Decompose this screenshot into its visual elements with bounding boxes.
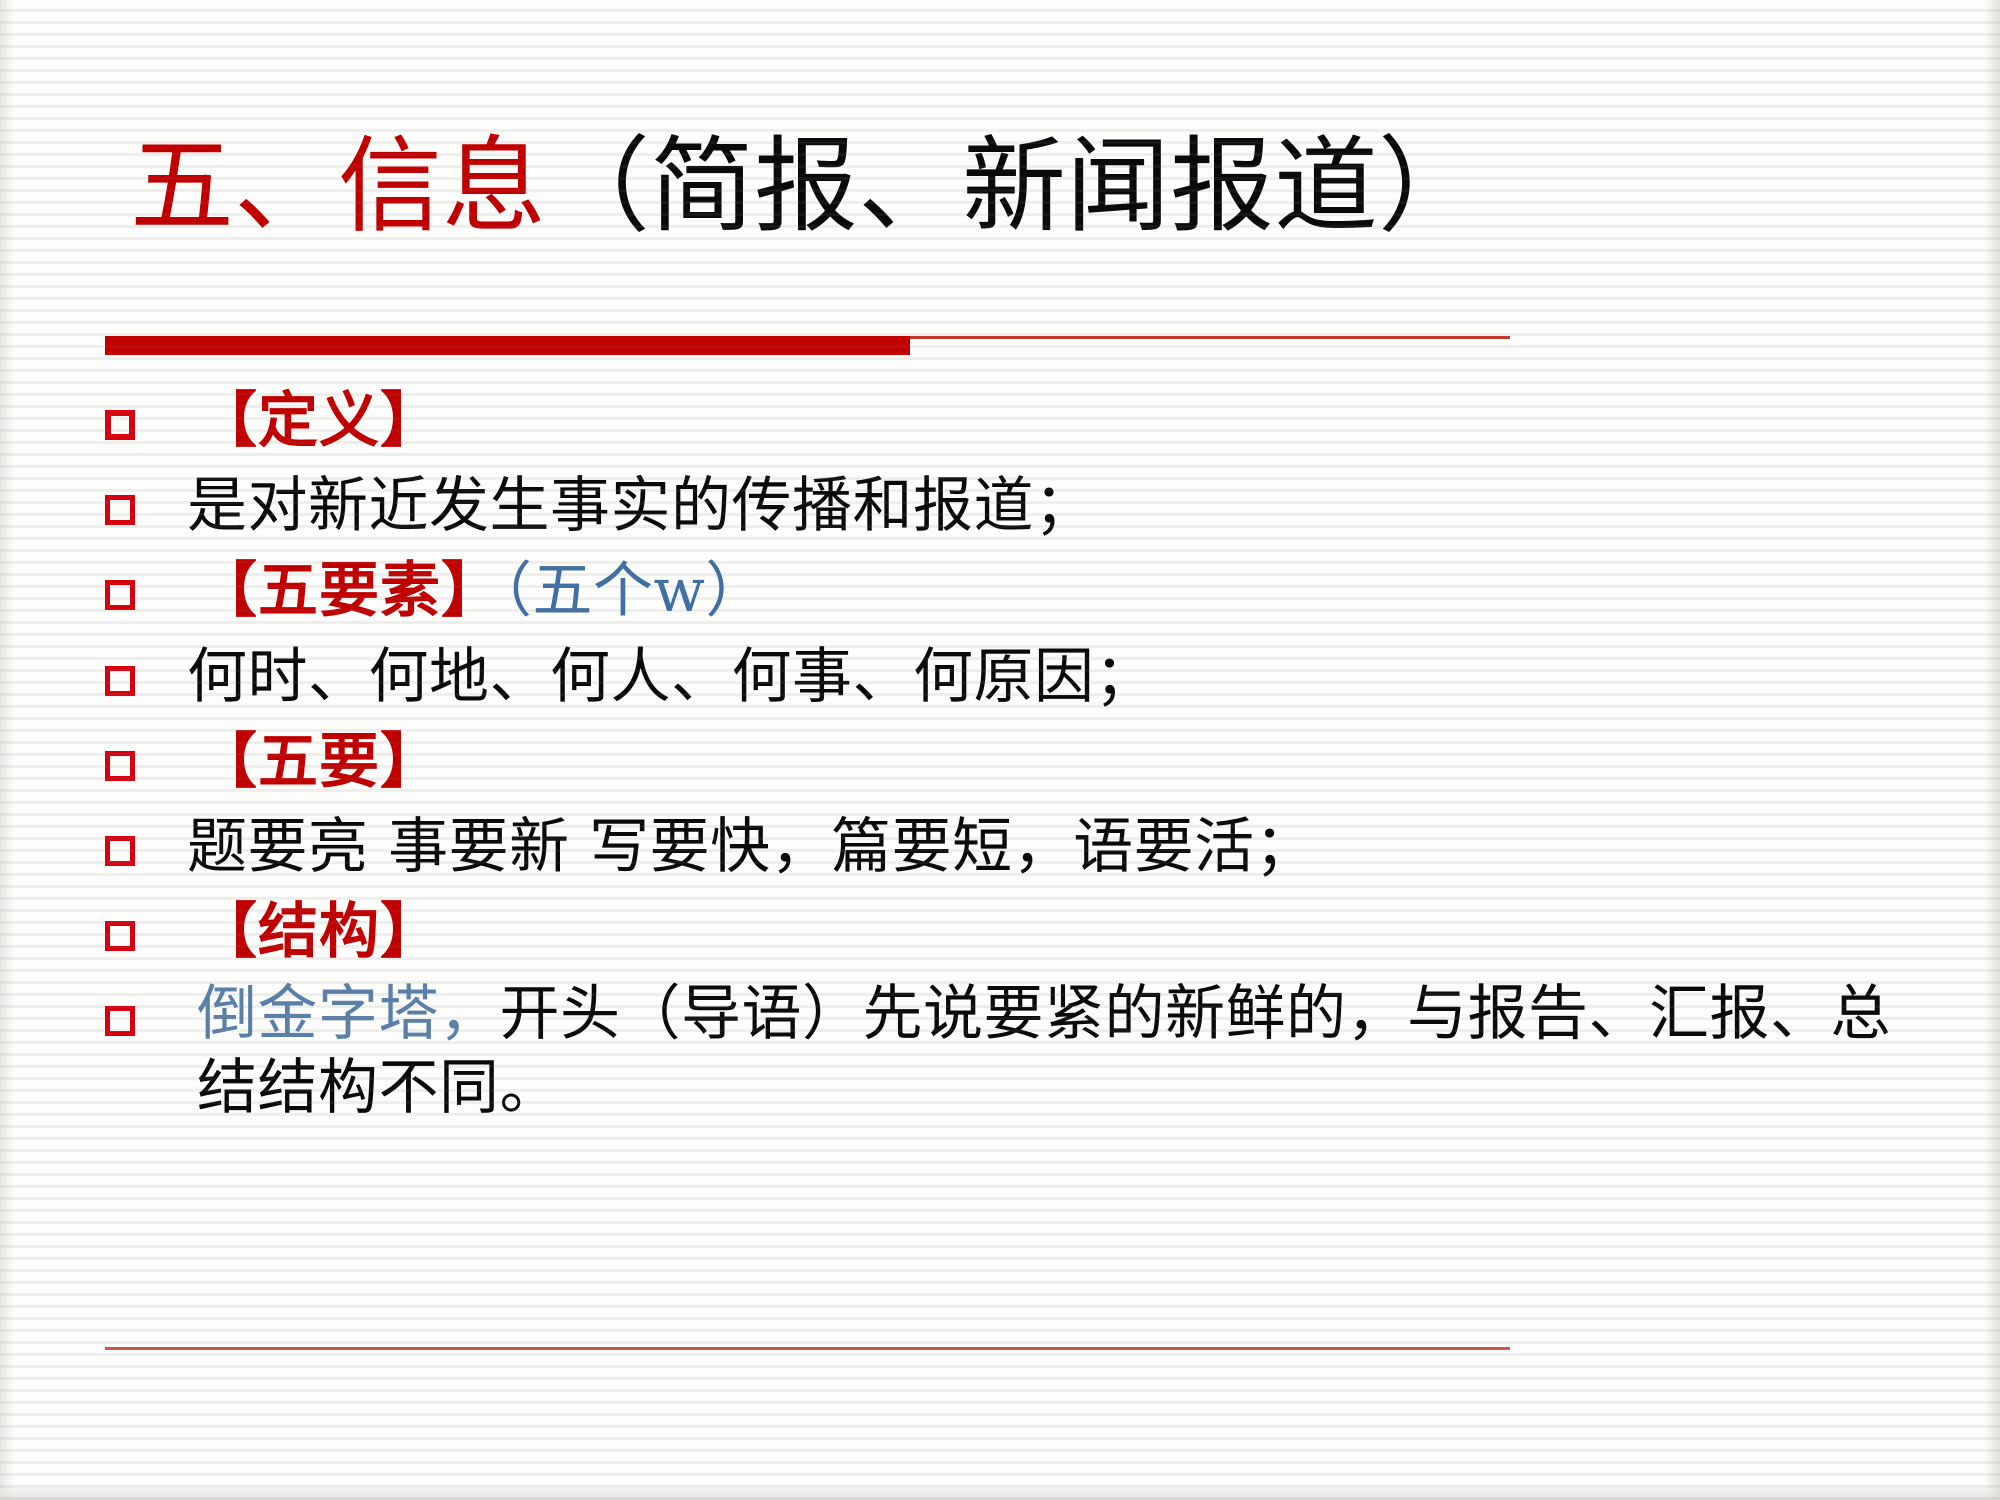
square-bullet-icon — [105, 410, 135, 440]
heading-definition: 【定义】 — [197, 386, 441, 456]
title-divider — [105, 334, 1510, 358]
title-divider-thick — [105, 336, 910, 355]
page-title-black: （简报、新闻报道） — [546, 125, 1482, 247]
slide-canvas: 五、信息（简报、新闻报道） 【定义】 是对新近发生事实的传播和报道； — [0, 0, 2000, 1500]
page-title-red: 五、信息 — [130, 125, 546, 247]
body-structure-lead: 倒金字塔， — [197, 979, 500, 1049]
square-bullet-icon — [105, 921, 135, 951]
square-bullet-icon — [105, 666, 135, 696]
square-bullet-icon — [105, 495, 135, 525]
list-item-label: 何时、何地、何人、何事、何原因； — [135, 638, 1915, 717]
list-item-label: 是对新近发生事实的传播和报道； — [135, 467, 1915, 546]
list-item-label: 倒金字塔，开头（导语）先说要紧的新鲜的，与报告、汇报、总结结构不同。 — [135, 978, 1915, 1124]
body-five-musts: 题要亮 事要新 写要快，篇要短，语要活； — [187, 812, 1315, 882]
heading-five-elements: 【五要素】 — [197, 556, 502, 626]
title-divider-thin — [910, 336, 1510, 339]
heading-structure: 【结构】 — [197, 897, 441, 967]
heading-five-musts: 【五要】 — [197, 727, 441, 797]
page-edge-bottom-shadow — [0, 1484, 2000, 1500]
list-item: 【定义】 — [105, 382, 1915, 461]
square-bullet-icon — [105, 1006, 135, 1036]
footer-divider — [105, 1347, 1510, 1350]
list-item: 【五要素】（五个w） — [105, 552, 1915, 631]
list-item-label: 【五要素】（五个w） — [135, 552, 1915, 631]
list-item: 题要亮 事要新 写要快，篇要短，语要活； — [105, 808, 1915, 887]
page-edge-right-shadow — [1984, 0, 2000, 1500]
note-five-w: （五个w） — [502, 556, 766, 626]
list-item: 是对新近发生事实的传播和报道； — [105, 467, 1915, 546]
list-item-label: 题要亮 事要新 写要快，篇要短，语要活； — [135, 808, 1915, 887]
list-item-label: 【五要】 — [135, 723, 1915, 802]
page-title: 五、信息（简报、新闻报道） — [130, 128, 1890, 244]
list-item: 【五要】 — [105, 723, 1915, 802]
list-item-label: 【结构】 — [135, 893, 1915, 972]
list-item: 倒金字塔，开头（导语）先说要紧的新鲜的，与报告、汇报、总结结构不同。 — [105, 978, 1915, 1124]
square-bullet-icon — [105, 836, 135, 866]
page-edge-left-shadow — [0, 0, 14, 1500]
list-item-label: 【定义】 — [135, 382, 1915, 461]
square-bullet-icon — [105, 751, 135, 781]
body-definition: 是对新近发生事实的传播和报道； — [187, 471, 1095, 541]
square-bullet-icon — [105, 580, 135, 610]
list-item: 何时、何地、何人、何事、何原因； — [105, 638, 1915, 717]
bullet-list: 【定义】 是对新近发生事实的传播和报道； 【五要素】（五个w） 何时、何地、何人… — [105, 382, 1915, 1131]
body-five-elements: 何时、何地、何人、何事、何原因； — [187, 642, 1155, 712]
list-item: 【结构】 — [105, 893, 1915, 972]
